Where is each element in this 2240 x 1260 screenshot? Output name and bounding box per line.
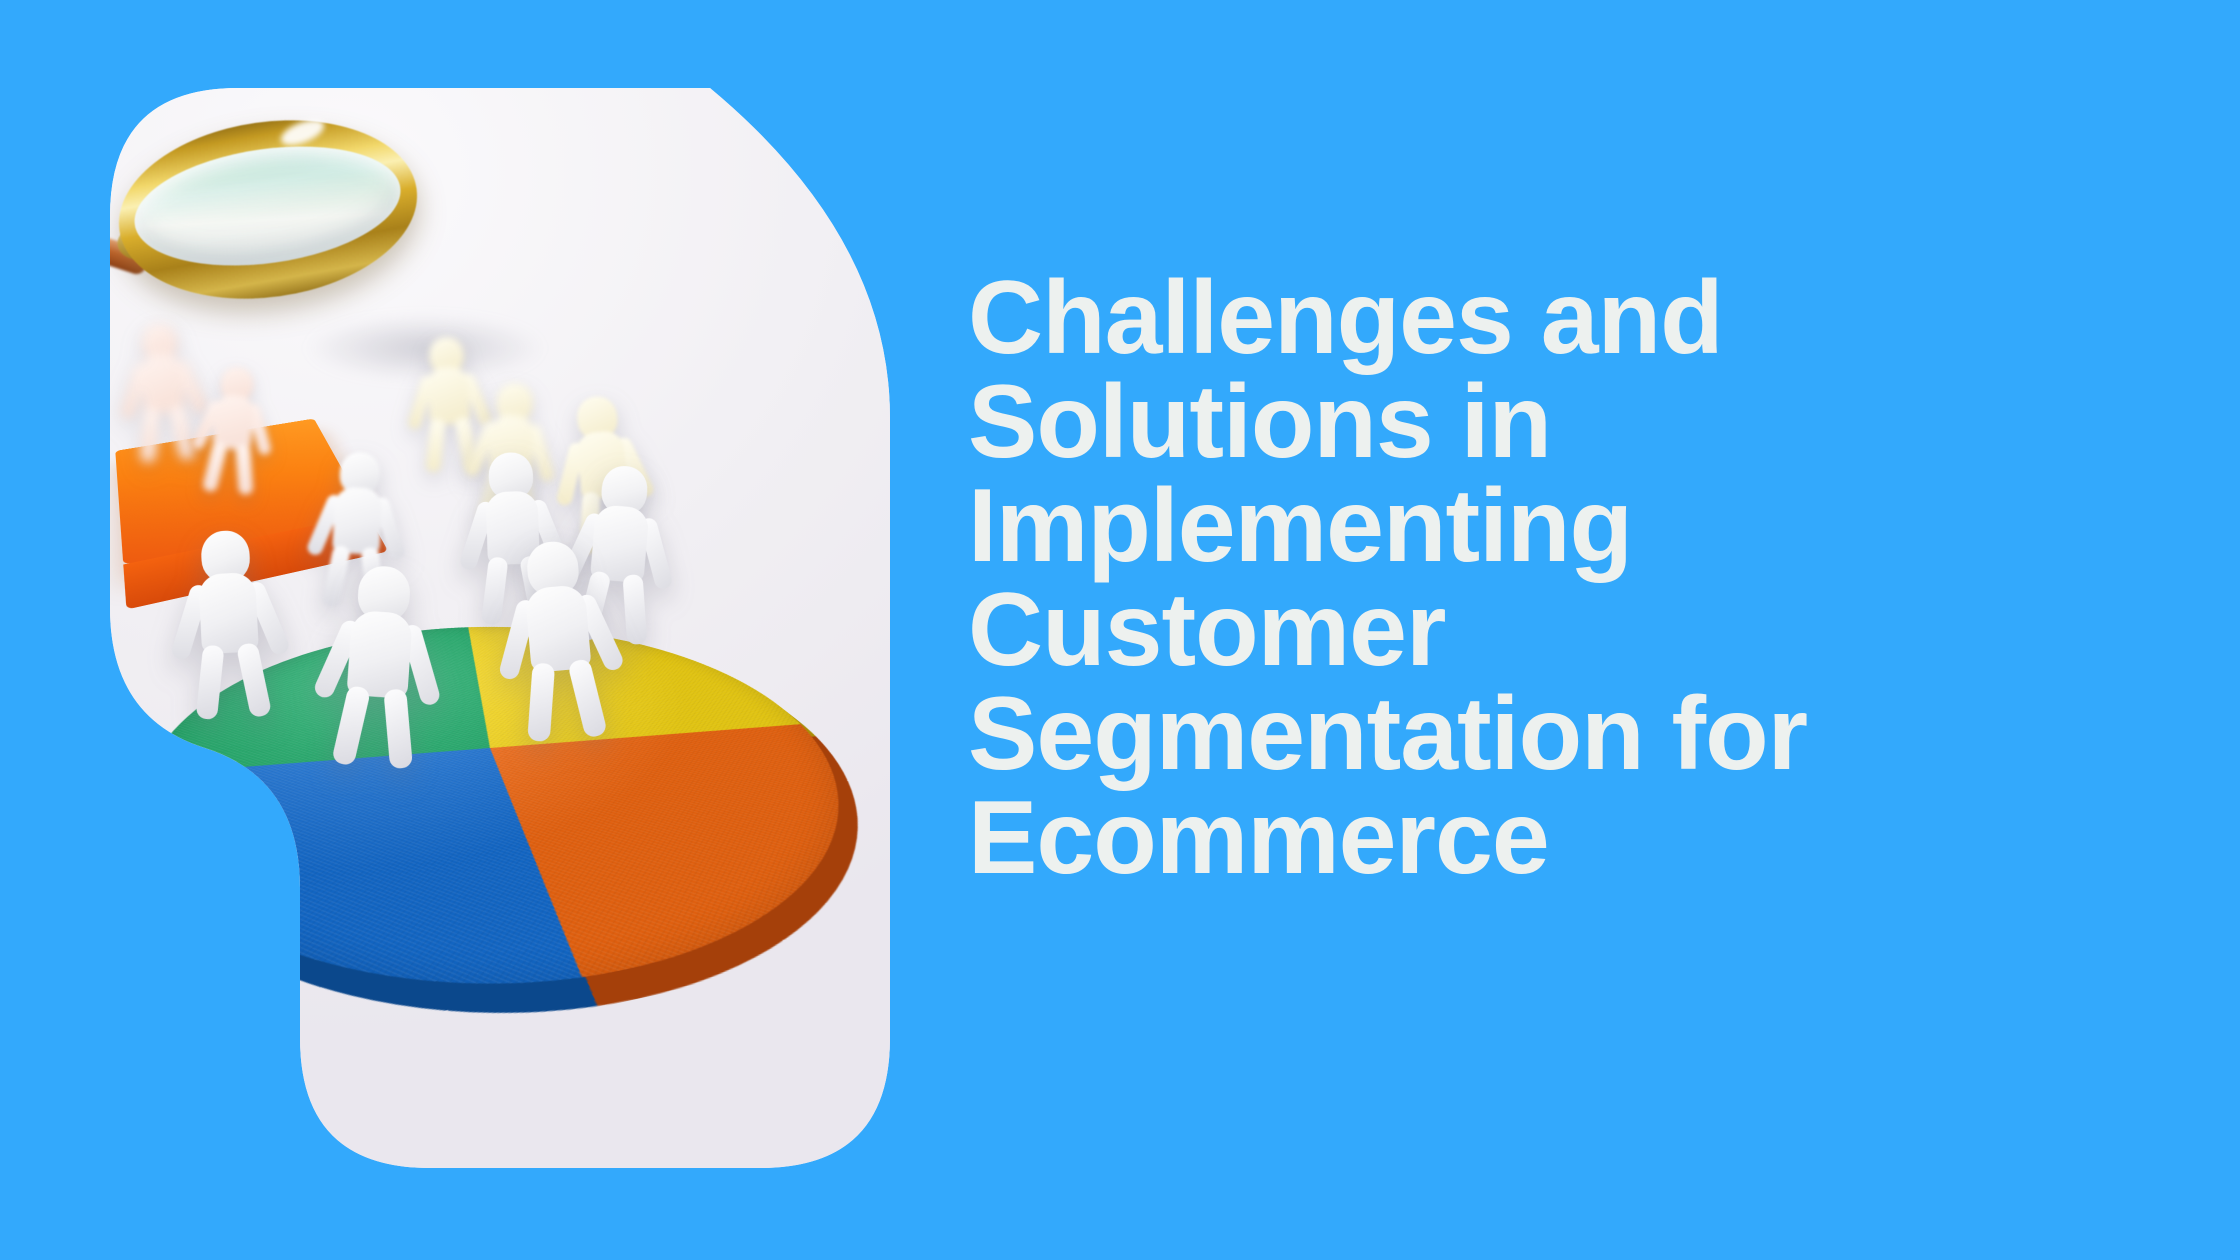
segmentation-photo [110,88,890,1168]
figurine-leg-right [622,574,647,645]
figurine-leg-right [567,658,608,739]
figurine-leg-left [202,441,228,493]
figurine-body [332,487,383,555]
figurine [180,529,278,718]
figurine-leg-left [527,663,555,742]
page-title: Challenges and Solutions in Implementing… [968,266,2028,890]
figurine-leg-left [140,407,160,463]
figurine-leg-right [235,444,253,495]
figurine [504,538,614,740]
figurine-leg-left [425,418,446,472]
figurine-body [198,572,259,654]
hero-banner: Challenges and Solutions in Implementing… [0,0,2240,1260]
figurine [126,321,200,462]
figurine-leg-left [196,644,225,720]
figurine [325,563,433,767]
figurine [198,364,268,494]
figurine-leg-right [383,688,413,769]
magnifying-glass-icon [110,102,429,317]
hero-image-panel [110,88,890,1168]
figurine-leg-right [168,404,196,461]
figurine-leg-left [331,684,371,766]
figurine-leg-right [236,642,272,719]
figurine-leg-left [481,556,509,625]
